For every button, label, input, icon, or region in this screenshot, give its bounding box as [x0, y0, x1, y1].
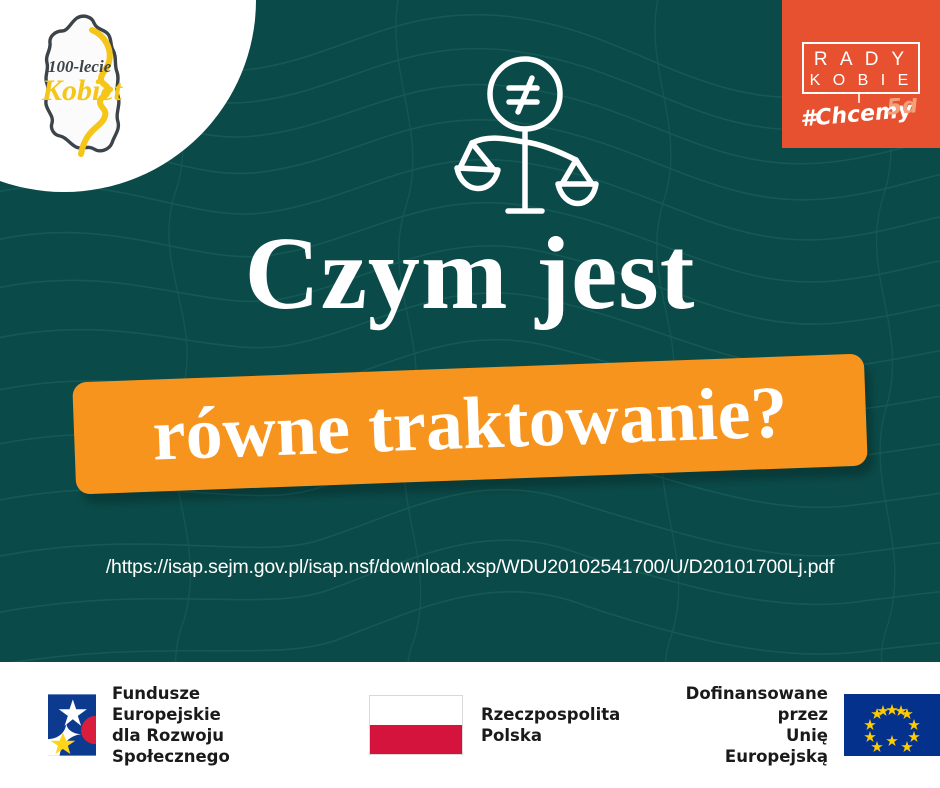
funding-footer: Fundusze Europejskie dla Rozwoju Społecz… [0, 662, 940, 788]
scales-not-equal-icon [450, 48, 600, 228]
european-funds-logo-icon [48, 688, 96, 762]
republic-of-poland-label: Rzeczpospolita Polska [481, 704, 620, 746]
european-union-label: Dofinansowane przez Unię Europejską [680, 683, 828, 767]
scales-not-equal-icon-graphic [450, 48, 600, 228]
rady-kobiet-badge: R A D Y K O B I E T # Chcemy 5d [782, 0, 940, 148]
footer-block-european-union: Dofinansowane przez Unię Europejską [680, 683, 940, 767]
rady-kobiet-frame: R A D Y K O B I E T [802, 42, 920, 94]
chcemy-hashtag-graphic: # Chcemy 5d [798, 98, 926, 126]
eu-flag-stars [844, 694, 940, 756]
rady-line-1: R A D Y [804, 49, 918, 71]
poland-flag-icon [369, 695, 463, 755]
chcemy-hashtag: # Chcemy 5d [798, 98, 926, 126]
footer-block-european-funds: Fundusze Europejskie dla Rozwoju Społecz… [48, 683, 307, 767]
footer-block-republic-of-poland: Rzeczpospolita Polska [369, 695, 620, 755]
chcemy-suffix: 5d [886, 98, 919, 121]
page-title: Czym jest [0, 222, 940, 326]
logo-line-bottom: Kobiet [41, 74, 124, 107]
source-url[interactable]: /https://isap.sejm.gov.pl/isap.nsf/downl… [0, 556, 940, 579]
european-funds-label: Fundusze Europejskie dla Rozwoju Społecz… [112, 683, 307, 767]
eu-flag-icon [844, 694, 940, 756]
logo-100lecie-kobiet-graphic: 100-lecie Kobiet [14, 10, 164, 160]
poster-canvas: 100-lecie Kobiet R A D Y K O B I E T # C… [0, 0, 940, 788]
logo-100lecie-kobiet: 100-lecie Kobiet [14, 10, 164, 160]
